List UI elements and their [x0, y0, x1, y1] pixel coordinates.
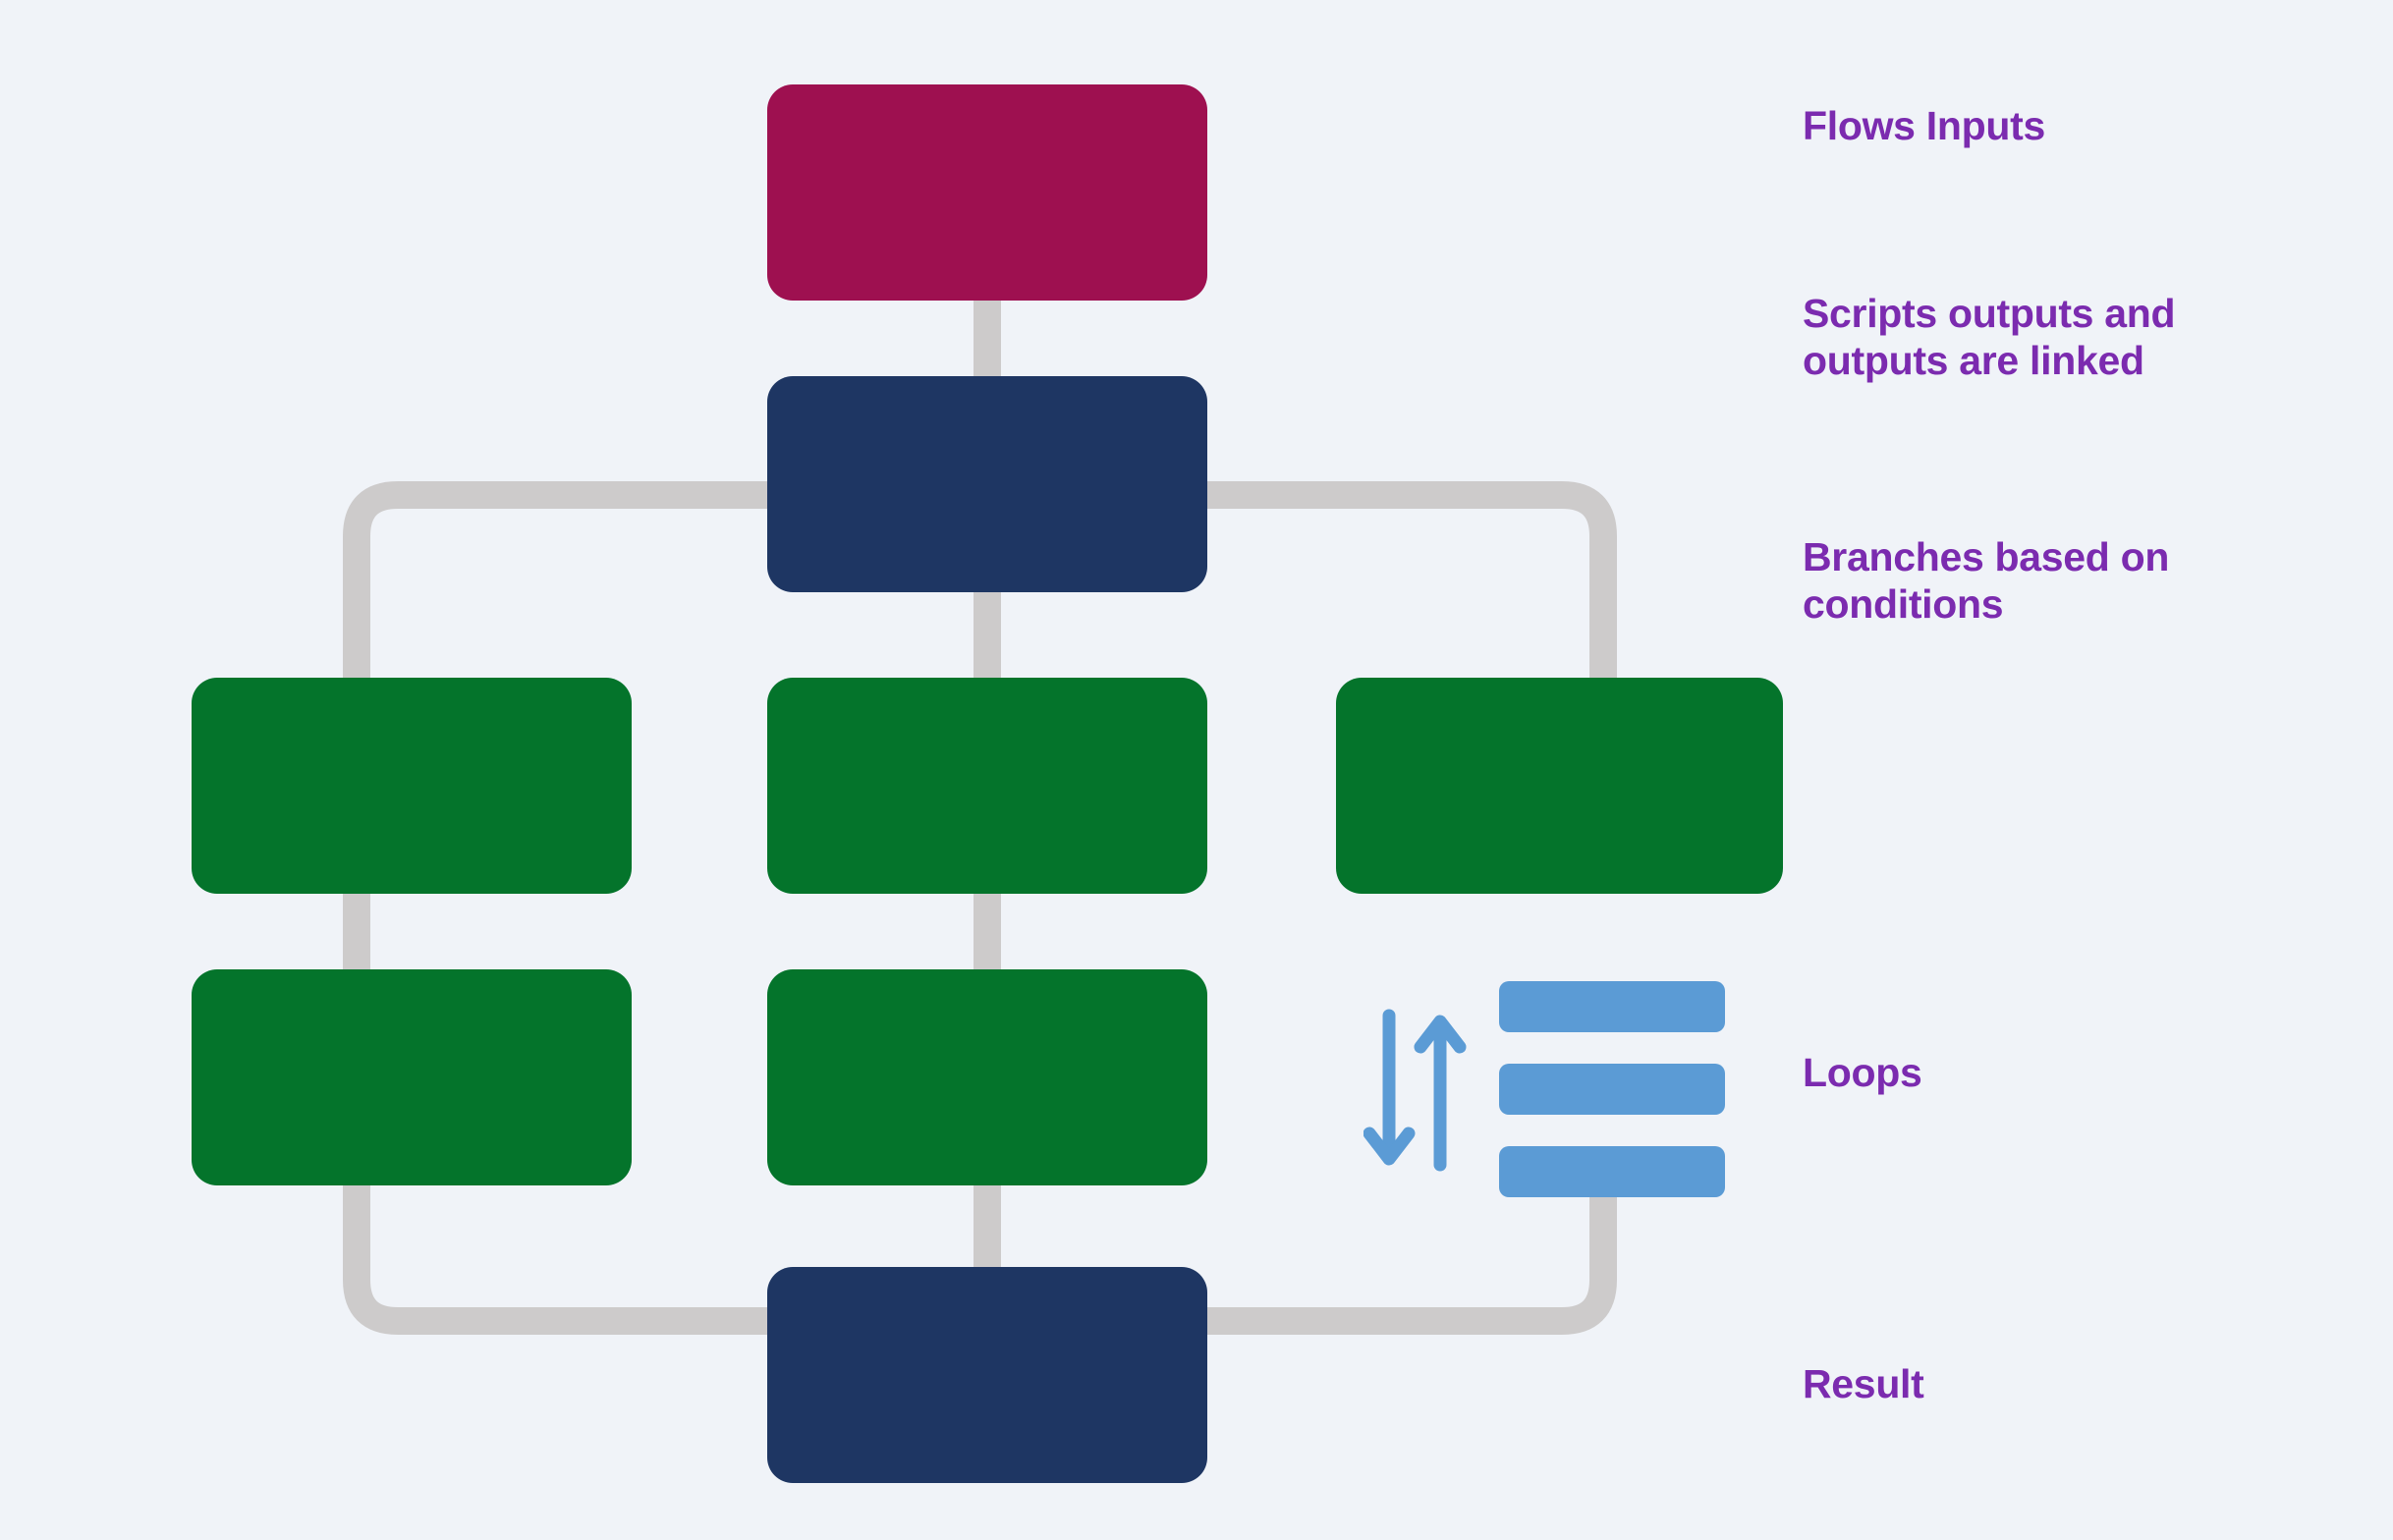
loop-left-node[interactable] — [192, 969, 632, 1185]
legend-label-flows-inputs: Flows Inputs — [1803, 102, 2045, 149]
loop-bar-1[interactable] — [1499, 981, 1725, 1032]
left-loop-to-result — [357, 1173, 786, 1321]
branch-mid-node[interactable] — [767, 678, 1207, 894]
loop-mid-node[interactable] — [767, 969, 1207, 1185]
legend-label-result: Result — [1803, 1360, 1924, 1407]
legend-label-scripts-outputs: Scripts outputs and outputs are linked — [1803, 290, 2175, 385]
legend-label-loops: Loops — [1803, 1049, 1921, 1096]
script-node[interactable] — [767, 376, 1207, 592]
branch-left-node[interactable] — [192, 678, 632, 894]
right-to-result — [1189, 1188, 1603, 1321]
script-right-branch — [1200, 495, 1603, 693]
loop-bar-2[interactable] — [1499, 1064, 1725, 1115]
loop-arrows-icon — [1363, 1002, 1472, 1179]
result-node[interactable] — [767, 1267, 1207, 1483]
legend-label-branches: Branches based on conditions — [1803, 533, 2169, 629]
branch-right-node[interactable] — [1336, 678, 1783, 894]
flow-diagram-canvas: Flows InputsScripts outputs and outputs … — [0, 0, 2393, 1540]
script-left-branch — [357, 495, 776, 693]
loop-bar-3[interactable] — [1499, 1146, 1725, 1197]
flows-inputs-node[interactable] — [767, 84, 1207, 301]
